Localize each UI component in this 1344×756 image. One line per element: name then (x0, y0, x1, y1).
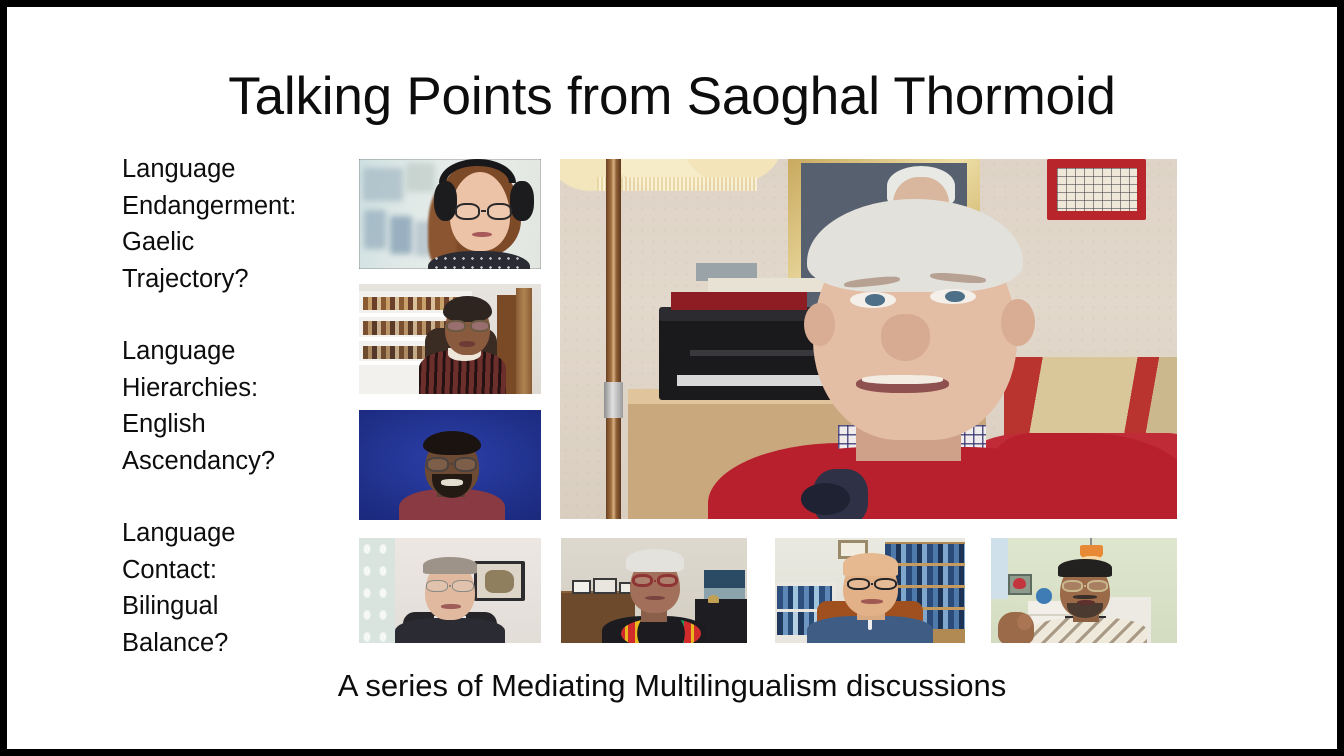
glasses-bridge (654, 580, 656, 582)
bald-head (843, 553, 898, 576)
glasses-lens-left (455, 203, 480, 220)
video-tile-participant-6 (775, 538, 965, 643)
iris-left (865, 294, 885, 306)
glasses-lens-left (1062, 580, 1083, 592)
slide-caption: A series of Mediating Multilingualism di… (7, 670, 1337, 703)
moustache (1073, 595, 1097, 599)
video-tile-participant-4 (359, 538, 541, 643)
gold-ornament (708, 595, 719, 603)
glasses-lens-left (847, 578, 870, 591)
glasses-lens-right (874, 578, 897, 591)
teeth (862, 375, 942, 384)
floor-lamp-ferrule (604, 382, 623, 418)
iris-right (945, 291, 965, 303)
mouth (861, 599, 884, 604)
glasses-lens-right (487, 203, 512, 220)
mouth (441, 604, 461, 609)
bookshelf-blur (406, 163, 435, 192)
video-tile-participant-2 (359, 284, 541, 394)
video-tile-participant-7 (991, 538, 1177, 643)
mouth (459, 341, 475, 347)
stacked-book (671, 292, 807, 310)
talking-point-line: Bilingual (122, 588, 347, 625)
talking-point-language-endangerment: Language Endangerment: Gaelic Trajectory… (122, 151, 347, 297)
mouth (441, 479, 463, 486)
glasses-bridge (449, 585, 452, 587)
picture-artwork (485, 570, 514, 593)
video-tile-participant-3 (359, 410, 541, 520)
glasses-lens-left (632, 574, 653, 588)
talking-point-language-contact: Language Contact: Bilingual Balance? (122, 515, 347, 661)
hair (1058, 559, 1112, 577)
glasses-icon (446, 320, 490, 332)
glasses-lens-left (446, 320, 466, 332)
talking-point-line: Trajectory? (122, 261, 347, 298)
calendar-grid (1057, 168, 1137, 211)
window (991, 538, 1008, 599)
bookshelf-blur (363, 168, 403, 201)
glasses-icon (632, 574, 679, 588)
glasses-bridge (467, 325, 469, 327)
presentation-slide: Talking Points from Saoghal Thormoid Lan… (0, 0, 1344, 756)
hair (626, 549, 684, 572)
glasses-lens-left (426, 457, 449, 471)
talking-point-line: Language (122, 515, 347, 552)
lampshade-fringe (597, 177, 757, 191)
thumb (1017, 614, 1032, 631)
talking-point-line: Language (122, 333, 347, 370)
glasses-icon (1062, 580, 1109, 592)
glasses-bridge (450, 463, 453, 465)
glasses-bridge (481, 210, 486, 212)
glasses-icon (426, 580, 473, 592)
jacket (395, 618, 504, 643)
talking-point-line: English (122, 406, 347, 443)
video-tile-participant-5 (561, 538, 747, 643)
glasses-lens-right (1087, 580, 1108, 592)
glasses-lens-right (454, 457, 477, 471)
talking-point-line: Hierarchies: (122, 370, 347, 407)
hair (423, 431, 481, 455)
headphone-earcup-right (510, 181, 534, 221)
hair (423, 557, 478, 574)
talking-point-language-hierarchies: Language Hierarchies: English Ascendancy… (122, 333, 347, 479)
bookshelf-blur (390, 216, 412, 253)
bookshelf-blur (364, 210, 386, 250)
talking-point-line: Ascendancy? (122, 443, 347, 480)
ear-right (1001, 299, 1035, 346)
glasses-icon (455, 203, 511, 220)
framed-photo (572, 580, 591, 594)
talking-point-line: Language (122, 151, 347, 188)
talking-point-line: Endangerment: (122, 188, 347, 225)
heart-artwork-icon (1013, 578, 1026, 590)
glasses-icon (847, 578, 896, 591)
patterned-wallpaper (359, 538, 395, 643)
mouth (472, 232, 492, 238)
glasses-bridge (1084, 585, 1087, 587)
headphone-earcup-left (434, 181, 458, 221)
framed-photo (593, 578, 617, 594)
glasses-lens-right (470, 320, 490, 332)
glasses-lens-right (452, 580, 473, 592)
glasses-lens-right (657, 574, 678, 588)
clothing-pattern (432, 254, 523, 269)
talking-point-line: Balance? (122, 625, 347, 662)
glasses-icon (426, 457, 477, 471)
talking-points-list: Language Endangerment: Gaelic Trajectory… (122, 151, 347, 661)
video-tile-main-speaker (560, 159, 1177, 519)
curtain (516, 288, 532, 394)
talking-point-line: Gaelic (122, 224, 347, 261)
talking-point-line: Contact: (122, 552, 347, 589)
glasses-bridge (871, 583, 873, 585)
video-tile-participant-1 (359, 159, 541, 269)
floor-lamp-pole (606, 159, 621, 519)
nose (881, 314, 930, 361)
glasses-lens-left (426, 580, 447, 592)
page-title: Talking Points from Saoghal Thormoid (7, 70, 1337, 123)
ear-left (804, 303, 835, 346)
books-row (885, 544, 965, 563)
hair (443, 296, 492, 322)
